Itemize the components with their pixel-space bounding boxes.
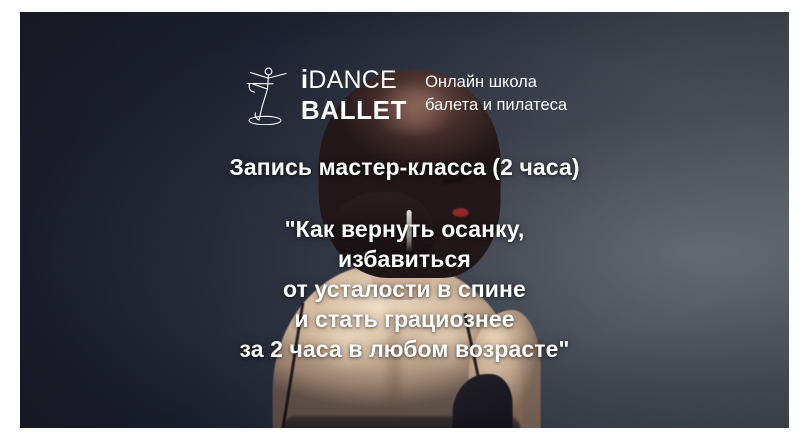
wordmark-ballet: BALLET [301,97,407,123]
banner-content: iDANCE BALLET Онлайн школа балета и пила… [20,12,789,428]
quote-line: за 2 часа в любом возрасте" [239,335,569,365]
headline-text: Запись мастер-класса (2 часа) [229,154,579,181]
quote-line: избавиться [239,245,569,275]
quote-block: "Как вернуть осанку, избавиться от устал… [239,215,569,364]
brand-tagline: Онлайн школа балета и пилатеса [425,71,567,118]
brand-wordmark: iDANCE BALLET [301,66,407,123]
tagline-line-1: Онлайн школа [425,71,567,94]
ballet-dancer-wireframe-icon [242,63,292,125]
promo-banner: iDANCE BALLET Онлайн школа балета и пила… [20,12,789,428]
quote-line: "Как вернуть осанку, [239,215,569,245]
brand-logo[interactable]: iDANCE BALLET Онлайн школа балета и пила… [242,63,567,125]
quote-line: от усталости в спине [239,275,569,305]
quote-line: и стать грациознее [239,305,569,335]
wordmark-line-dance: iDANCE [301,66,407,93]
wordmark-dance: DANCE [308,66,397,94]
tagline-line-2: балета и пилатеса [425,94,567,117]
